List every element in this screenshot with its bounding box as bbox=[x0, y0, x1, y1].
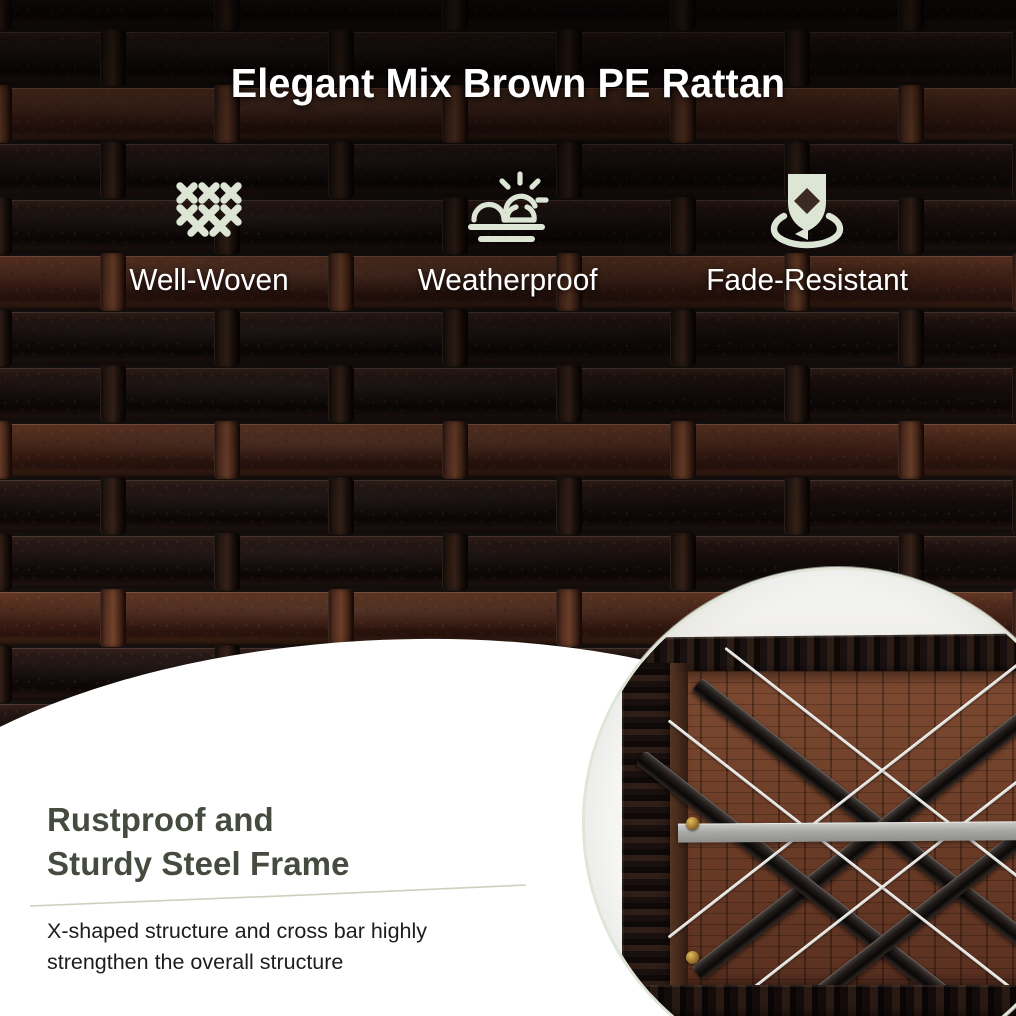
rattan-strand bbox=[1012, 365, 1016, 423]
rattan-strand bbox=[0, 0, 12, 31]
product-feature-banner: Elegant Mix Brown PE Rattan bbox=[0, 0, 1016, 1016]
rattan-strand bbox=[100, 589, 126, 647]
rattan-strand bbox=[556, 589, 582, 647]
panel-heading-line-1: Rustproof and bbox=[47, 798, 517, 842]
rattan-strand bbox=[328, 477, 354, 535]
panel-heading-line-2: Sturdy Steel Frame bbox=[47, 842, 517, 886]
rattan-strand bbox=[442, 309, 468, 367]
rattan-strand bbox=[328, 365, 354, 423]
steel-cross-bar bbox=[678, 820, 1016, 842]
panel-heading: Rustproof and Sturdy Steel Frame bbox=[47, 798, 517, 886]
rattan-strand bbox=[0, 533, 12, 591]
rattan-strand bbox=[442, 421, 468, 479]
rattan-strand bbox=[100, 365, 126, 423]
rattan-strand bbox=[214, 0, 240, 31]
rattan-strand bbox=[214, 421, 240, 479]
feature-label: Well-Woven bbox=[130, 262, 289, 298]
rattan-strand bbox=[556, 365, 582, 423]
screw-icon bbox=[686, 951, 699, 964]
rattan-strand bbox=[670, 421, 696, 479]
feature-label: Fade-Resistant bbox=[706, 262, 908, 298]
panel-divider bbox=[28, 884, 528, 910]
page-title: Elegant Mix Brown PE Rattan bbox=[18, 60, 998, 107]
rattan-strand bbox=[670, 0, 696, 31]
rattan-strand bbox=[0, 309, 12, 367]
rattan-strand bbox=[442, 533, 468, 591]
rattan-left-leg bbox=[622, 663, 674, 993]
steel-x-frame-photo bbox=[582, 567, 1016, 1016]
rattan-strand bbox=[556, 477, 582, 535]
panel-body-line-1: X-shaped structure and cross bar highly bbox=[47, 916, 467, 947]
rattan-strand bbox=[442, 0, 468, 31]
fade-resistant-shield-icon bbox=[764, 168, 850, 250]
feature-item-fade-resistant: Fade-Resistant bbox=[657, 168, 956, 298]
rattan-bottom-rail bbox=[642, 985, 1016, 1016]
rattan-strand bbox=[898, 421, 924, 479]
feature-list: Well-Woven bbox=[60, 168, 956, 313]
feature-item-weatherproof: Weatherproof bbox=[359, 168, 658, 298]
cushion-top-band bbox=[582, 567, 1016, 639]
rattan-strand bbox=[1012, 29, 1016, 87]
rattan-strand bbox=[100, 477, 126, 535]
panel-body-text: X-shaped structure and cross bar highly … bbox=[47, 916, 467, 977]
rattan-strand bbox=[1012, 477, 1016, 535]
rattan-strand bbox=[1012, 253, 1016, 311]
rattan-strand bbox=[898, 0, 924, 31]
rattan-strand bbox=[784, 477, 810, 535]
rattan-strand bbox=[214, 309, 240, 367]
woven-lattice-icon bbox=[169, 168, 249, 250]
feature-label: Weatherproof bbox=[418, 262, 598, 298]
rattan-strand bbox=[0, 421, 12, 479]
feature-item-well-woven: Well-Woven bbox=[60, 168, 359, 298]
rattan-strand bbox=[0, 645, 12, 703]
rattan-strand bbox=[784, 365, 810, 423]
screw-icon bbox=[686, 817, 699, 830]
rattan-strand bbox=[328, 589, 354, 647]
sun-cloud-weather-icon bbox=[462, 168, 554, 250]
panel-body-line-2: strengthen the overall structure bbox=[47, 947, 467, 978]
rattan-strand bbox=[0, 197, 12, 255]
rattan-strand bbox=[898, 309, 924, 367]
rattan-strand bbox=[670, 309, 696, 367]
rattan-strand bbox=[214, 533, 240, 591]
rattan-strand bbox=[0, 85, 12, 143]
rattan-strand bbox=[1012, 141, 1016, 199]
product-closeup-inset bbox=[582, 567, 1016, 1016]
